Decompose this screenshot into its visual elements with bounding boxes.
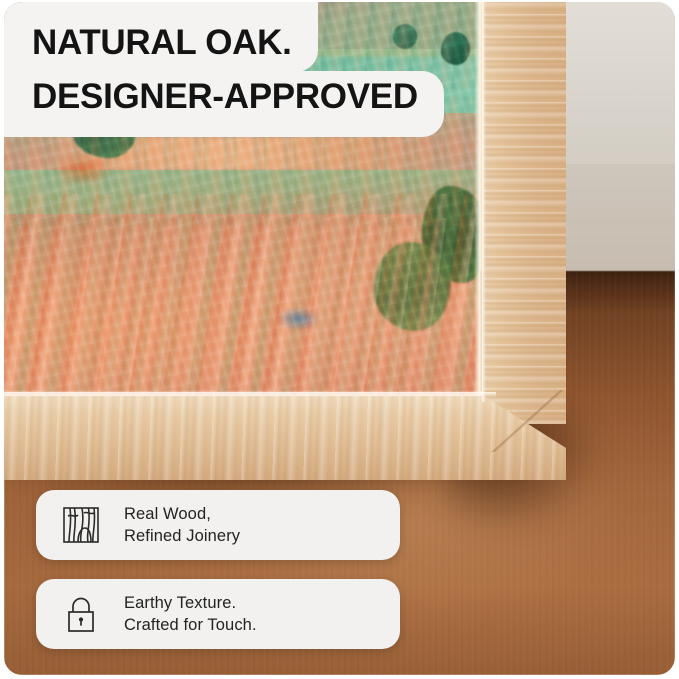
feature-card-label: Real Wood, Refined Joinery xyxy=(124,503,240,547)
padlock-icon xyxy=(58,591,104,637)
photo-canvas: NATURAL OAK. DESIGNER-APPROVED Real Wood… xyxy=(4,2,675,675)
wood-grain-icon xyxy=(58,502,104,548)
frame-stile-left-highlight xyxy=(482,2,486,402)
product-image: NATURAL OAK. DESIGNER-APPROVED Real Wood… xyxy=(0,0,679,679)
painting-brushstrokes xyxy=(4,218,480,396)
headline-block: NATURAL OAK. DESIGNER-APPROVED xyxy=(4,2,444,137)
frame-rail-top-highlight xyxy=(4,392,496,397)
headline-line-1: NATURAL OAK. xyxy=(4,2,318,72)
frame-mitre-joint xyxy=(480,390,576,452)
headline-line-2: DESIGNER-APPROVED xyxy=(4,71,444,137)
feature-card-real-wood: Real Wood, Refined Joinery xyxy=(36,490,400,560)
painting-accent-orange xyxy=(54,154,112,186)
feature-card-label: Earthy Texture. Crafted for Touch. xyxy=(124,592,257,636)
feature-card-earthy-texture: Earthy Texture. Crafted for Touch. xyxy=(36,579,400,649)
frame-right-stile xyxy=(484,2,566,424)
painting-accent-blue xyxy=(277,307,321,331)
